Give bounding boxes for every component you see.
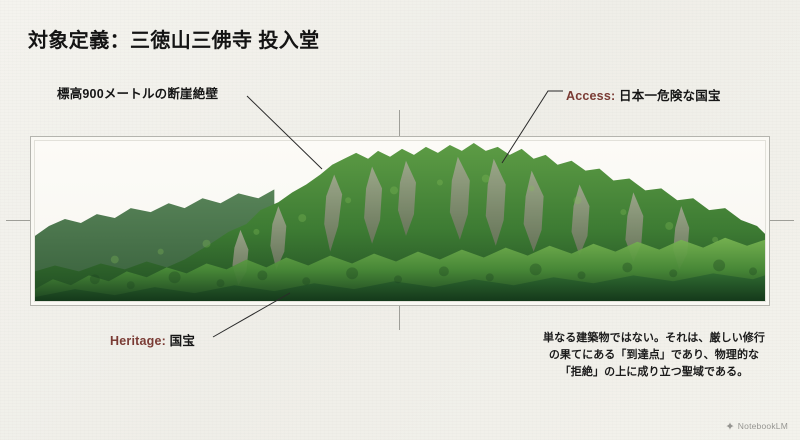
crop-tick-left xyxy=(6,220,30,221)
notebooklm-watermark-label: NotebookLM xyxy=(738,421,788,431)
annotation-elevation: 標高900メートルの断崖絶壁 xyxy=(57,83,218,102)
crop-tick-top xyxy=(399,110,400,136)
annotation-heritage-key: Heritage: xyxy=(110,334,166,348)
annotation-heritage: Heritage: 国宝 xyxy=(110,330,195,349)
annotation-access: Access: 日本一危険な国宝 xyxy=(566,85,721,104)
body-paragraph: 単なる建築物ではない。それは、厳しい修行の果てにある「到達点」であり、物理的な「… xyxy=(542,330,766,381)
annotation-heritage-value: 国宝 xyxy=(170,334,195,348)
notebooklm-spark-icon xyxy=(725,421,735,431)
annotation-access-key: Access: xyxy=(566,89,615,103)
photo-inner-border xyxy=(34,140,766,302)
annotation-elevation-value: 標高900メートルの断崖絶壁 xyxy=(57,87,218,101)
mountain-photograph xyxy=(35,141,765,301)
page-title: 対象定義：三徳山三佛寺 投入堂 xyxy=(28,24,320,53)
notebooklm-watermark: NotebookLM xyxy=(725,421,788,431)
slide-canvas: 対象定義：三徳山三佛寺 投入堂 xyxy=(0,0,800,440)
crop-tick-right xyxy=(770,220,794,221)
photo-frame xyxy=(30,136,770,306)
annotation-access-value: 日本一危険な国宝 xyxy=(619,89,721,103)
crop-tick-bottom xyxy=(399,306,400,330)
